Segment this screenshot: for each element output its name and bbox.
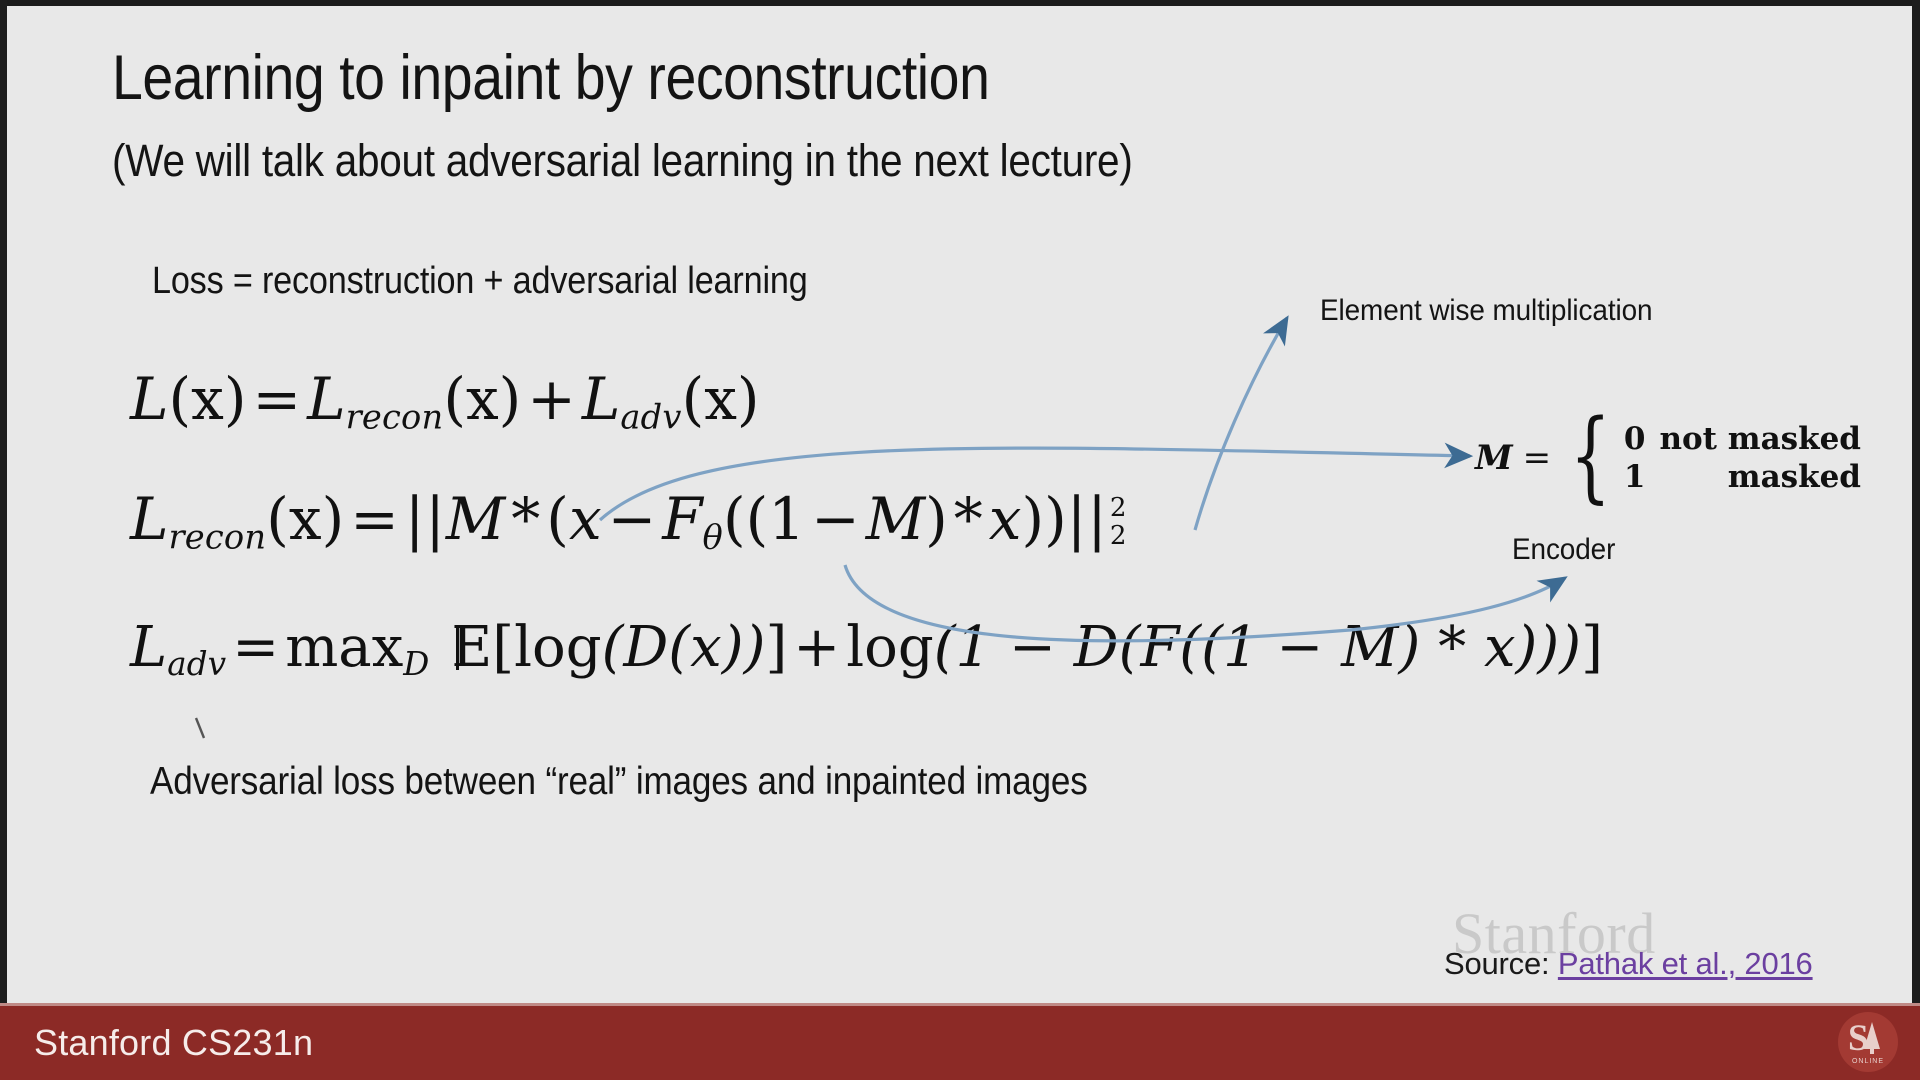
eq1-term2-arg: (x) [682, 365, 760, 433]
eq3-log-1: log [514, 615, 601, 680]
eq2-mask-symbol: M [446, 485, 505, 553]
eq2-star-1: * [505, 485, 546, 553]
eq3-discriminator-term-1: (D(x)) [602, 615, 766, 680]
logo-online-text: ONLINE [1847, 1058, 1889, 1065]
eq1-equals: = [246, 365, 307, 433]
eq3-equals: = [226, 615, 285, 680]
eq2-equals: = [344, 485, 405, 553]
logo-inner: S ONLINE [1847, 1020, 1889, 1064]
slide-subtitle: (We will talk about adversarial learning… [112, 136, 1133, 186]
mask-label-0: not masked [1659, 420, 1861, 458]
eq2-star-2: * [948, 485, 989, 553]
eq2-open-paren-2: (( [723, 485, 768, 553]
eq3-bracket-close-2: ] [1581, 615, 1603, 680]
eq2-minus-2: − [805, 485, 866, 553]
eq1-term1-symbol: L [307, 365, 346, 433]
letterbox-left-edge [0, 0, 7, 1006]
eq3-expectation-symbol: E [447, 620, 492, 676]
eq2-lhs-symbol: L [130, 485, 169, 553]
mask-value-1: 1 [1624, 458, 1660, 496]
eq1-term2-symbol: L [582, 365, 621, 433]
loss-summary-line: Loss = reconstruction + adversarial lear… [152, 260, 808, 303]
tree-icon [1864, 1022, 1880, 1049]
eq2-minus-1: − [602, 485, 663, 553]
equation-adversarial-loss: Ladv=maxD E[log(D(x))]+log(1 − D(F((1 − … [130, 620, 1603, 681]
eq2-close-paren-1: ) [925, 485, 948, 553]
footer-course-title: Stanford CS231n [34, 1022, 313, 1064]
source-prefix: Source: [1444, 946, 1558, 981]
letterbox-top-edge [0, 0, 1920, 6]
annotation-element-wise-label: Element wise multiplication [1320, 294, 1652, 328]
eq2-x-1: x [569, 485, 602, 553]
stanford-online-logo-icon: S ONLINE [1838, 1012, 1898, 1072]
eq3-lhs-subscript: adv [167, 645, 226, 683]
mask-label-1: masked [1659, 458, 1861, 496]
mask-definition-brace: { [1570, 422, 1611, 493]
eq1-plus: + [521, 365, 582, 433]
tree-trunk-icon [1870, 1046, 1874, 1054]
eq2-mask-symbol-2: M [866, 485, 925, 553]
letterbox-right-edge [1912, 0, 1920, 1006]
adversarial-loss-caption: Adversarial loss between “real” images a… [150, 760, 1088, 804]
eq2-lhs-arg: (x) [266, 485, 344, 553]
eq2-norm-open: || [405, 485, 446, 553]
mask-definition-row: 0 not masked [1624, 420, 1861, 458]
source-link[interactable]: Pathak et al., 2016 [1558, 946, 1813, 981]
arrow-adversarial-tick [196, 718, 204, 738]
eq2-norm-close: || [1067, 485, 1108, 553]
eq2-norm-exponent: 2 [1110, 495, 1127, 521]
annotation-encoder-label: Encoder [1512, 533, 1615, 567]
slide-title: Learning to inpaint by reconstruction [112, 44, 989, 112]
eq1-term1-subscript: recon [346, 397, 444, 436]
mask-value-0: 0 [1624, 420, 1660, 458]
eq2-f-symbol: F [662, 485, 702, 553]
eq1-term2-subscript: adv [620, 397, 681, 436]
source-attribution: Source: Pathak et al., 2016 [1444, 946, 1813, 982]
mask-definition-block: M = { 0 not masked 1 masked [1475, 420, 1861, 496]
eq3-plus: + [787, 615, 846, 680]
mask-definition-symbol: M [1475, 438, 1513, 478]
mask-definition-table: 0 not masked 1 masked [1624, 420, 1861, 496]
equation-reconstruction-loss: Lrecon(x)=||M*(x−Fθ((1−M)*x))|| 2 2 [130, 490, 1126, 554]
mask-definition-equals: = [1523, 438, 1552, 478]
slide-canvas: Learning to inpaint by reconstruction (W… [0, 0, 1920, 1080]
eq2-one: 1 [768, 485, 805, 553]
eq3-bracket-close: ] [765, 615, 787, 680]
eq2-f-subscript-theta: θ [703, 517, 723, 556]
footer-bar: Stanford CS231n S ONLINE [0, 1003, 1920, 1080]
eq2-lhs-subscript: recon [169, 517, 267, 556]
eq2-norm-index: 2 [1110, 523, 1127, 549]
eq1-term1-arg: (x) [443, 365, 521, 433]
eq1-lhs-arg: (x) [169, 365, 247, 433]
eq1-lhs-symbol: L [130, 365, 169, 433]
eq3-bracket-open: [ [492, 615, 514, 680]
arrow-element-wise-multiplication [1195, 318, 1287, 530]
eq3-discriminator-term-2: (1 − D(F((1 − M) * x))) [934, 615, 1581, 680]
eq3-max-operator: max [285, 615, 403, 680]
equation-total-loss: L(x)=Lrecon(x)+Ladv(x) [130, 370, 760, 434]
eq3-lhs-symbol: L [130, 615, 167, 680]
eq3-log-2: log [846, 615, 933, 680]
eq2-open-paren-1: ( [546, 485, 569, 553]
eq2-norm-exponent-group: 2 2 [1110, 495, 1127, 549]
mask-definition-row: 1 masked [1624, 458, 1861, 496]
eq3-max-subscript: D [403, 645, 429, 683]
eq2-x-2: x [989, 485, 1022, 553]
eq2-close-paren-2: )) [1022, 485, 1067, 553]
